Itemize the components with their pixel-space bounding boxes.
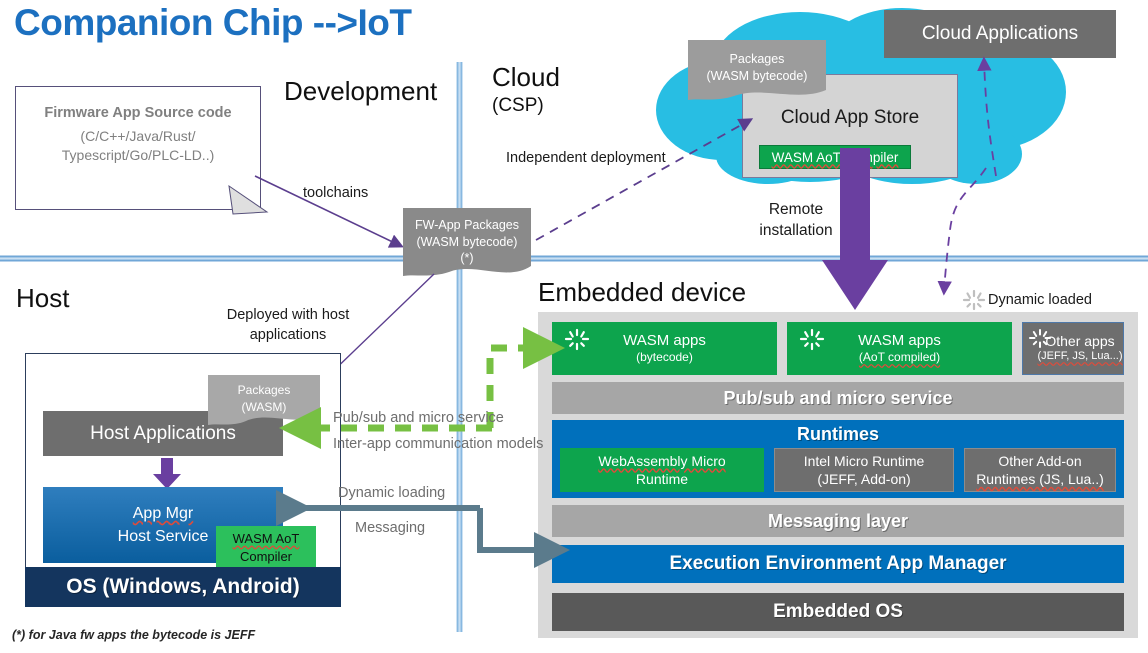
section-label-embedded-device: Embedded device xyxy=(538,277,746,308)
spinner-icon-app-2 xyxy=(1028,328,1052,352)
dynamic-loading-label: Dynamic loading xyxy=(338,485,445,501)
firmware-source-code-box: Firmware App Source code (C/C++/Java/Rus… xyxy=(15,86,261,210)
embedded-runtime-0-line1: WebAssembly Micro xyxy=(598,453,725,469)
embedded-pubsub-label: Pub/sub and micro service xyxy=(723,388,952,409)
pubsub-micro-service-label: Pub/sub and micro service xyxy=(333,410,504,426)
fw-packages-line3: (*) xyxy=(415,250,519,267)
firmware-source-line1: (C/C++/Java/Rust/ xyxy=(44,127,231,146)
cloud-apps-dashed-arrow xyxy=(960,46,1030,186)
spinner-icon-app-1 xyxy=(799,328,825,354)
spinner-icon-legend xyxy=(962,290,986,314)
cloud-app-store-label: Cloud App Store xyxy=(743,107,957,129)
embedded-runtime-2-line2: Runtimes (JS, Lua..) xyxy=(976,471,1104,487)
spinner-icon-app-0 xyxy=(564,328,590,354)
fw-packages-callout: FW-App Packages (WASM bytecode) (*) xyxy=(403,214,531,270)
deployed-with-host-line1: Deployed with host xyxy=(227,306,350,326)
toolchains-label: toolchains xyxy=(303,185,368,201)
embedded-runtime-1-line1: Intel Micro Runtime xyxy=(804,452,925,470)
embedded-pubsub-bar[interactable]: Pub/sub and micro service xyxy=(552,382,1124,414)
embedded-os-bar[interactable]: Embedded OS xyxy=(552,593,1124,631)
embedded-app-1-line2: (AoT compiled) xyxy=(858,350,941,365)
fw-packages-line2: (WASM bytecode) xyxy=(415,234,519,251)
cloud-packages-line1: Packages xyxy=(707,51,808,68)
pubsub-green-connector xyxy=(282,330,562,450)
embedded-app-2-line2: (JEFF, JS, Lua...) xyxy=(1038,350,1123,364)
footnote: (*) for Java fw apps the bytecode is JEF… xyxy=(12,628,255,642)
embedded-app-manager-label: Execution Environment App Manager xyxy=(669,553,1006,575)
host-os-label: OS (Windows, Android) xyxy=(66,575,300,599)
remote-installation-line1: Remote xyxy=(759,200,832,221)
messaging-label: Messaging xyxy=(355,520,425,536)
fw-packages-line1: FW-App Packages xyxy=(415,217,519,234)
page-title: Companion Chip -->IoT xyxy=(14,2,411,44)
embedded-runtimes-title: Runtimes xyxy=(552,423,1124,445)
embedded-runtime-0-line2: Runtime xyxy=(598,470,725,488)
independent-deployment-arrow xyxy=(534,108,764,248)
embedded-runtimes-group: Runtimes WebAssembly Micro Runtime Intel… xyxy=(552,420,1124,498)
cloud-packages-callout: Packages (WASM bytecode) xyxy=(688,48,826,88)
embedded-runtime-box-1[interactable]: Intel Micro Runtime (JEFF, Add-on) xyxy=(774,448,954,492)
embedded-messaging-layer-label: Messaging layer xyxy=(768,511,908,532)
host-os-bar[interactable]: OS (Windows, Android) xyxy=(25,567,341,607)
host-app-mgr-line2: Host Service xyxy=(118,525,209,548)
remote-installation-line2: installation xyxy=(759,221,832,242)
embedded-app-0-line2: (bytecode) xyxy=(623,350,706,365)
embedded-os-label: Embedded OS xyxy=(773,601,903,623)
section-label-development: Development xyxy=(284,76,437,107)
toolchains-arrow xyxy=(255,168,415,254)
embedded-app-1-line1: WASM apps xyxy=(858,332,941,351)
cloud-applications-label: Cloud Applications xyxy=(922,23,1078,45)
section-label-host: Host xyxy=(16,283,69,314)
firmware-source-line2: Typescript/Go/PLC-LD..) xyxy=(44,146,231,165)
embedded-device-panel: WASM apps (bytecode) WASM apps (AoT comp… xyxy=(538,312,1138,638)
embedded-runtime-box-2[interactable]: Other Add-on Runtimes (JS, Lua..) xyxy=(964,448,1116,492)
embedded-app-0-line1: WASM apps xyxy=(623,332,706,351)
section-label-cloud: Cloud xyxy=(492,62,560,93)
host-app-mgr-line1: App Mgr xyxy=(133,505,193,522)
independent-deployment-label: Independent deployment xyxy=(506,150,666,166)
cloud-packages-line2: (WASM bytecode) xyxy=(707,68,808,85)
embedded-app-manager-bar[interactable]: Execution Environment App Manager xyxy=(552,545,1124,583)
dynamic-loaded-dashed-arrow xyxy=(920,168,1010,308)
remote-installation-label: Remote installation xyxy=(760,200,832,242)
embedded-runtime-box-0[interactable]: WebAssembly Micro Runtime xyxy=(560,448,764,492)
diagram-canvas: Companion Chip -->IoT Development Cloud … xyxy=(0,0,1148,653)
embedded-messaging-layer-bar[interactable]: Messaging layer xyxy=(552,505,1124,537)
host-apps-to-appmgr-arrow xyxy=(152,458,182,490)
embedded-runtime-2-line1: Other Add-on xyxy=(976,452,1104,470)
inter-app-communication-label: Inter-app communication models xyxy=(333,436,543,452)
firmware-source-title: Firmware App Source code xyxy=(44,105,231,121)
dynamic-loaded-legend-label: Dynamic loaded xyxy=(988,292,1092,308)
embedded-runtime-1-line2: (JEFF, Add-on) xyxy=(804,470,925,488)
